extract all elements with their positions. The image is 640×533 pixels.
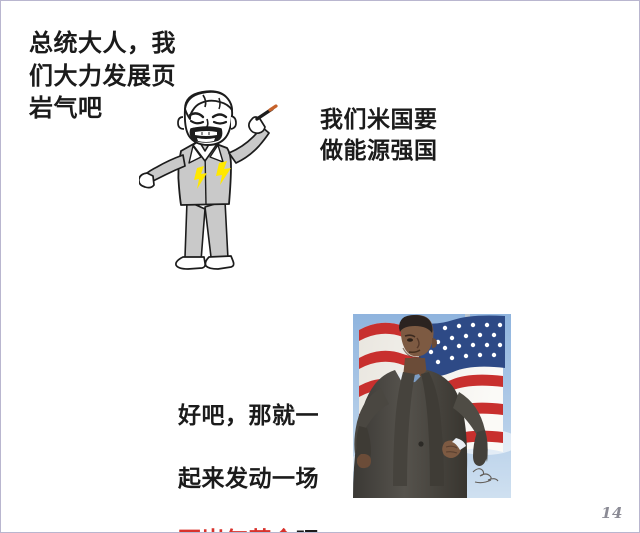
speech-text-bottom-left: 好吧，那就一 起来发动一场 页岩气革命吧 [178, 369, 353, 533]
president-portrait-svg [353, 314, 511, 498]
speech-line-2: 起来发动一场 [178, 463, 353, 494]
president-portrait-image [353, 314, 511, 498]
cartoon-official-svg [139, 89, 299, 289]
speech-line-3: 页岩气革命吧 [178, 525, 353, 533]
highlight-shale-gas-revolution: 页岩气革命 [178, 527, 296, 533]
speech-text-top-right: 我们米国要 做能源强国 [320, 104, 490, 167]
speech-line-3-tail: 吧 [296, 527, 320, 533]
eye [407, 338, 413, 342]
hand-left [357, 454, 371, 468]
page-number: 14 [601, 504, 623, 522]
presentation-slide: 总统大人，我 们大力发展页 岩气吧 [0, 0, 640, 533]
cartoon-official-illustration [139, 89, 299, 289]
jacket-button [418, 441, 423, 446]
speech-line-1: 好吧，那就一 [178, 400, 353, 431]
